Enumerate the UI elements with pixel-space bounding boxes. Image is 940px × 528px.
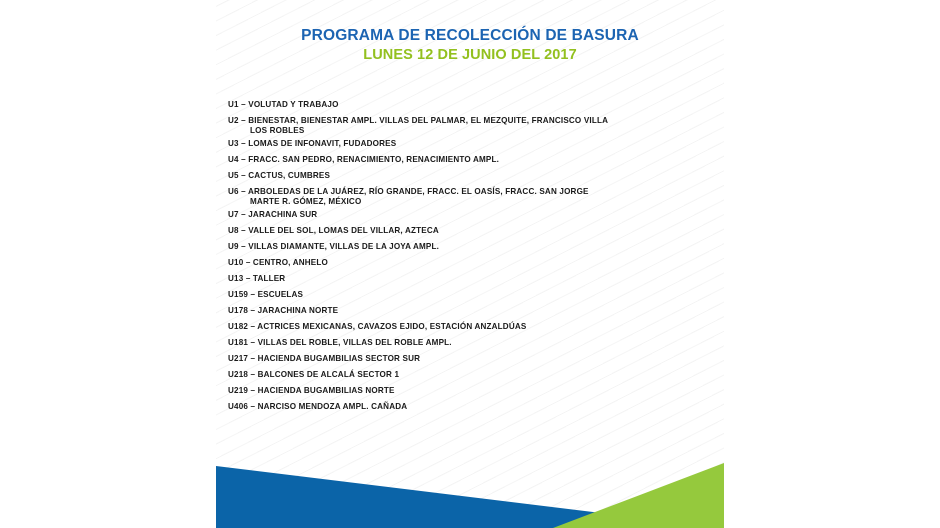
route-label: U182 – ACTRICES MEXICANAS, CAVAZOS EJIDO… [228, 322, 526, 331]
route-list-item: U159 – ESCUELAS [228, 290, 714, 300]
route-label: U5 – CACTUS, CUMBRES [228, 171, 330, 180]
route-list-item: U406 – NARCISO MENDOZA AMPL. CAÑADA [228, 402, 714, 412]
route-list-item: U5 – CACTUS, CUMBRES [228, 171, 714, 181]
route-list-item: U178 – JARACHINA NORTE [228, 306, 714, 316]
route-list-item: U1 – VOLUTAD Y TRABAJO [228, 100, 714, 110]
route-list-item: U219 – HACIENDA BUGAMBILIAS NORTE [228, 386, 714, 396]
route-list-item: U7 – JARACHINA SUR [228, 210, 714, 220]
bottom-decorative-graphic [216, 438, 724, 528]
route-label: U10 – CENTRO, ANHELO [228, 258, 328, 267]
poster-header: PROGRAMA DE RECOLECCIÓN DE BASURA LUNES … [216, 27, 724, 64]
route-label: U181 – VILLAS DEL ROBLE, VILLAS DEL ROBL… [228, 338, 452, 347]
route-label: U8 – VALLE DEL SOL, LOMAS DEL VILLAR, AZ… [228, 226, 439, 235]
route-label: U4 – FRACC. SAN PEDRO, RENACIMIENTO, REN… [228, 155, 499, 164]
route-list-item: U2 – BIENESTAR, BIENESTAR AMPL. VILLAS D… [228, 116, 714, 136]
route-label: U217 – HACIENDA BUGAMBILIAS SECTOR SUR [228, 354, 420, 363]
route-label: U7 – JARACHINA SUR [228, 210, 317, 219]
route-list-item: U218 – BALCONES DE ALCALÁ SECTOR 1 [228, 370, 714, 380]
page-subtitle-date: LUNES 12 DE JUNIO DEL 2017 [216, 47, 724, 64]
route-list-item: U217 – HACIENDA BUGAMBILIAS SECTOR SUR [228, 354, 714, 364]
route-label: U178 – JARACHINA NORTE [228, 306, 338, 315]
route-list-item: U6 – ARBOLEDAS DE LA JUÁREZ, RÍO GRANDE,… [228, 187, 714, 207]
route-label: U6 – ARBOLEDAS DE LA JUÁREZ, RÍO GRANDE,… [228, 187, 589, 196]
route-list-item: U182 – ACTRICES MEXICANAS, CAVAZOS EJIDO… [228, 322, 714, 332]
route-label-continuation: LOS ROBLES [228, 126, 714, 136]
route-list-item: U4 – FRACC. SAN PEDRO, RENACIMIENTO, REN… [228, 155, 714, 165]
route-list-item: U9 – VILLAS DIAMANTE, VILLAS DE LA JOYA … [228, 242, 714, 252]
route-list-item: U10 – CENTRO, ANHELO [228, 258, 714, 268]
route-label: U1 – VOLUTAD Y TRABAJO [228, 100, 339, 109]
route-label: U219 – HACIENDA BUGAMBILIAS NORTE [228, 386, 395, 395]
route-label: U159 – ESCUELAS [228, 290, 303, 299]
route-label-continuation: MARTE R. GÓMEZ, MÉXICO [228, 197, 714, 207]
route-label: U3 – LOMAS DE INFONAVIT, FUDADORES [228, 139, 396, 148]
route-list-item: U13 – TALLER [228, 274, 714, 284]
route-label: U2 – BIENESTAR, BIENESTAR AMPL. VILLAS D… [228, 116, 608, 125]
route-label: U9 – VILLAS DIAMANTE, VILLAS DE LA JOYA … [228, 242, 439, 251]
route-list-item: U181 – VILLAS DEL ROBLE, VILLAS DEL ROBL… [228, 338, 714, 348]
route-label: U406 – NARCISO MENDOZA AMPL. CAÑADA [228, 402, 407, 411]
screenshot-stage: PROGRAMA DE RECOLECCIÓN DE BASURA LUNES … [0, 0, 940, 528]
page-title: PROGRAMA DE RECOLECCIÓN DE BASURA [216, 27, 724, 45]
poster-canvas: PROGRAMA DE RECOLECCIÓN DE BASURA LUNES … [216, 0, 724, 528]
green-angle-shape [553, 463, 724, 528]
route-label: U218 – BALCONES DE ALCALÁ SECTOR 1 [228, 370, 399, 379]
route-list: U1 – VOLUTAD Y TRABAJOU2 – BIENESTAR, BI… [228, 100, 714, 418]
route-label: U13 – TALLER [228, 274, 285, 283]
route-list-item: U3 – LOMAS DE INFONAVIT, FUDADORES [228, 139, 714, 149]
route-list-item: U8 – VALLE DEL SOL, LOMAS DEL VILLAR, AZ… [228, 226, 714, 236]
